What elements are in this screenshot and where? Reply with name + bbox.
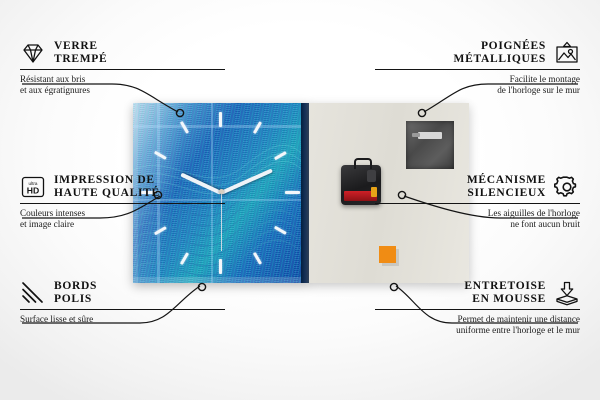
feature-header: POIGNÉES MÉTALLIQUES <box>375 40 580 66</box>
divider <box>375 69 580 70</box>
hour-mark <box>219 259 222 274</box>
feature-entretoise-en-mousse[interactable]: ENTRETOISE EN MOUSSE Permet de maintenir… <box>375 280 580 336</box>
feature-title: MÉCANISME SILENCIEUX <box>467 174 546 200</box>
feature-description: Les aiguilles de l'horloge ne font aucun… <box>375 208 580 230</box>
feature-verre-trempe[interactable]: VERRE TREMPÉ Résistant aux bris et aux é… <box>20 40 225 96</box>
divider <box>375 203 580 204</box>
hour-mark <box>285 191 300 194</box>
gear-icon <box>554 174 580 200</box>
divider <box>20 203 225 204</box>
feature-title: IMPRESSION DE HAUTE QUALITÉ <box>54 174 160 200</box>
diagonal-lines-icon <box>20 280 46 306</box>
foam-spacer <box>379 246 396 263</box>
feature-title: BORDS POLIS <box>54 280 97 306</box>
arrow-onto-pad-icon <box>554 280 580 306</box>
hanger-slot <box>418 132 442 139</box>
feature-title: VERRE TREMPÉ <box>54 40 107 66</box>
feature-header: ENTRETOISE EN MOUSSE <box>375 280 580 306</box>
battery <box>344 191 377 201</box>
feature-header: ultra HD IMPRESSION DE HAUTE QUALITÉ <box>20 174 225 200</box>
divider <box>20 309 225 310</box>
feature-header: MÉCANISME SILENCIEUX <box>375 174 580 200</box>
feature-header: VERRE TREMPÉ <box>20 40 225 66</box>
feature-description: Facilite le montage de l'horloge sur le … <box>375 74 580 96</box>
hanger-slot-secondary <box>412 133 420 137</box>
feature-header: BORDS POLIS <box>20 280 225 306</box>
feature-title: POIGNÉES MÉTALLIQUES <box>454 40 546 66</box>
mechanism-hook <box>354 158 372 169</box>
svg-text:HD: HD <box>27 186 39 196</box>
feature-poignees-metalliques[interactable]: POIGNÉES MÉTALLIQUES Facilite le montage… <box>375 40 580 96</box>
feature-title: ENTRETOISE EN MOUSSE <box>464 280 546 306</box>
infographic-canvas: VERRE TREMPÉ Résistant aux bris et aux é… <box>0 0 600 400</box>
divider <box>375 309 580 310</box>
feature-description: Résistant aux bris et aux égratignures <box>20 74 225 96</box>
hour-mark <box>219 112 222 127</box>
divider <box>20 69 225 70</box>
feature-description: Surface lisse et sûre <box>20 314 225 325</box>
feature-description: Permet de maintenir une distance uniform… <box>375 314 580 336</box>
metal-hanger-plate <box>406 121 454 169</box>
ultra-hd-icon: ultra HD <box>20 174 46 200</box>
feature-mecanisme-silencieux[interactable]: MÉCANISME SILENCIEUX Les aiguilles de l'… <box>375 174 580 230</box>
feature-bords-polis[interactable]: BORDS POLIS Surface lisse et sûre <box>20 280 225 325</box>
diamond-icon <box>20 40 46 66</box>
feature-description: Couleurs intenses et image claire <box>20 208 225 230</box>
feature-impression-haute-qualite[interactable]: ultra HD IMPRESSION DE HAUTE QUALITÉ Cou… <box>20 174 225 230</box>
framed-picture-hanging-icon <box>554 40 580 66</box>
